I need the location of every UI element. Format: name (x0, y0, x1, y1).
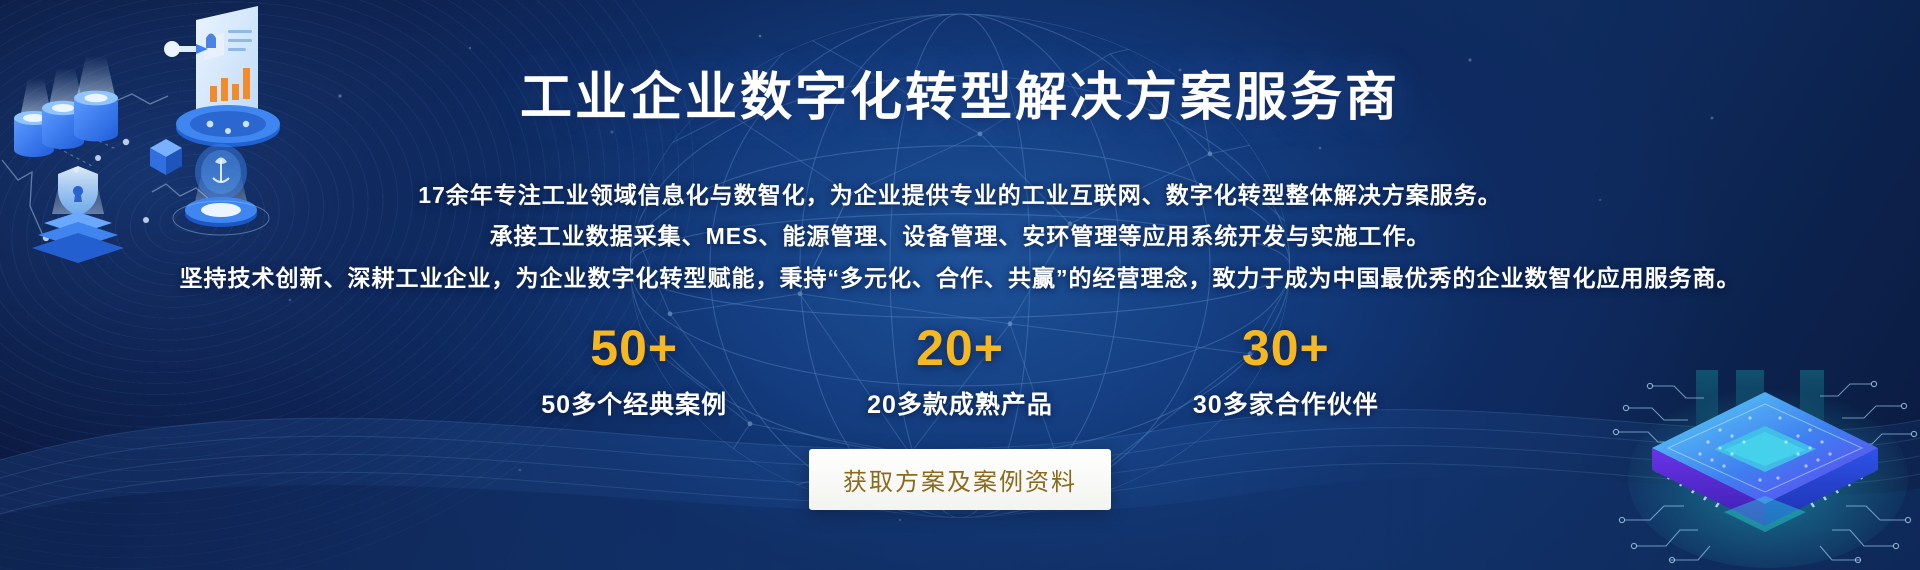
stat-value: 30+ (1242, 323, 1330, 373)
banner-content: 工业企业数字化转型解决方案服务商 17余年专注工业领域信息化与数智化，为企业提供… (0, 0, 1920, 570)
get-solution-button[interactable]: 获取方案及案例资料 (809, 449, 1111, 510)
hero-banner: 工业企业数字化转型解决方案服务商 17余年专注工业领域信息化与数智化，为企业提供… (0, 0, 1920, 570)
page-title: 工业企业数字化转型解决方案服务商 (520, 69, 1400, 127)
stat-value: 50+ (590, 323, 678, 373)
stat-item: 30+ 30多家合作伙伴 (1193, 323, 1379, 421)
stat-value: 20+ (916, 323, 1004, 373)
stat-item: 20+ 20多款成熟产品 (867, 323, 1053, 421)
stat-item: 50+ 50多个经典案例 (541, 323, 727, 421)
subtitle-line-1: 17余年专注工业领域信息化与数智化，为企业提供专业的工业互联网、数字化转型整体解… (418, 182, 1502, 210)
subtitle-line-2: 承接工业数据采集、MES、能源管理、设备管理、安环管理等应用系统开发与实施工作。 (490, 223, 1431, 251)
stats-group: 50+ 50多个经典案例 20+ 20多款成熟产品 30+ 30多家合作伙伴 (541, 323, 1378, 421)
subtitle-group: 17余年专注工业领域信息化与数智化，为企业提供专业的工业互联网、数字化转型整体解… (180, 182, 1741, 293)
stat-label: 20多款成熟产品 (867, 385, 1053, 421)
subtitle-line-3: 坚持技术创新、深耕工业企业，为企业数字化转型赋能，秉持“多元化、合作、共赢”的经… (180, 265, 1741, 293)
stat-label: 30多家合作伙伴 (1193, 385, 1379, 421)
stat-label: 50多个经典案例 (541, 385, 727, 421)
